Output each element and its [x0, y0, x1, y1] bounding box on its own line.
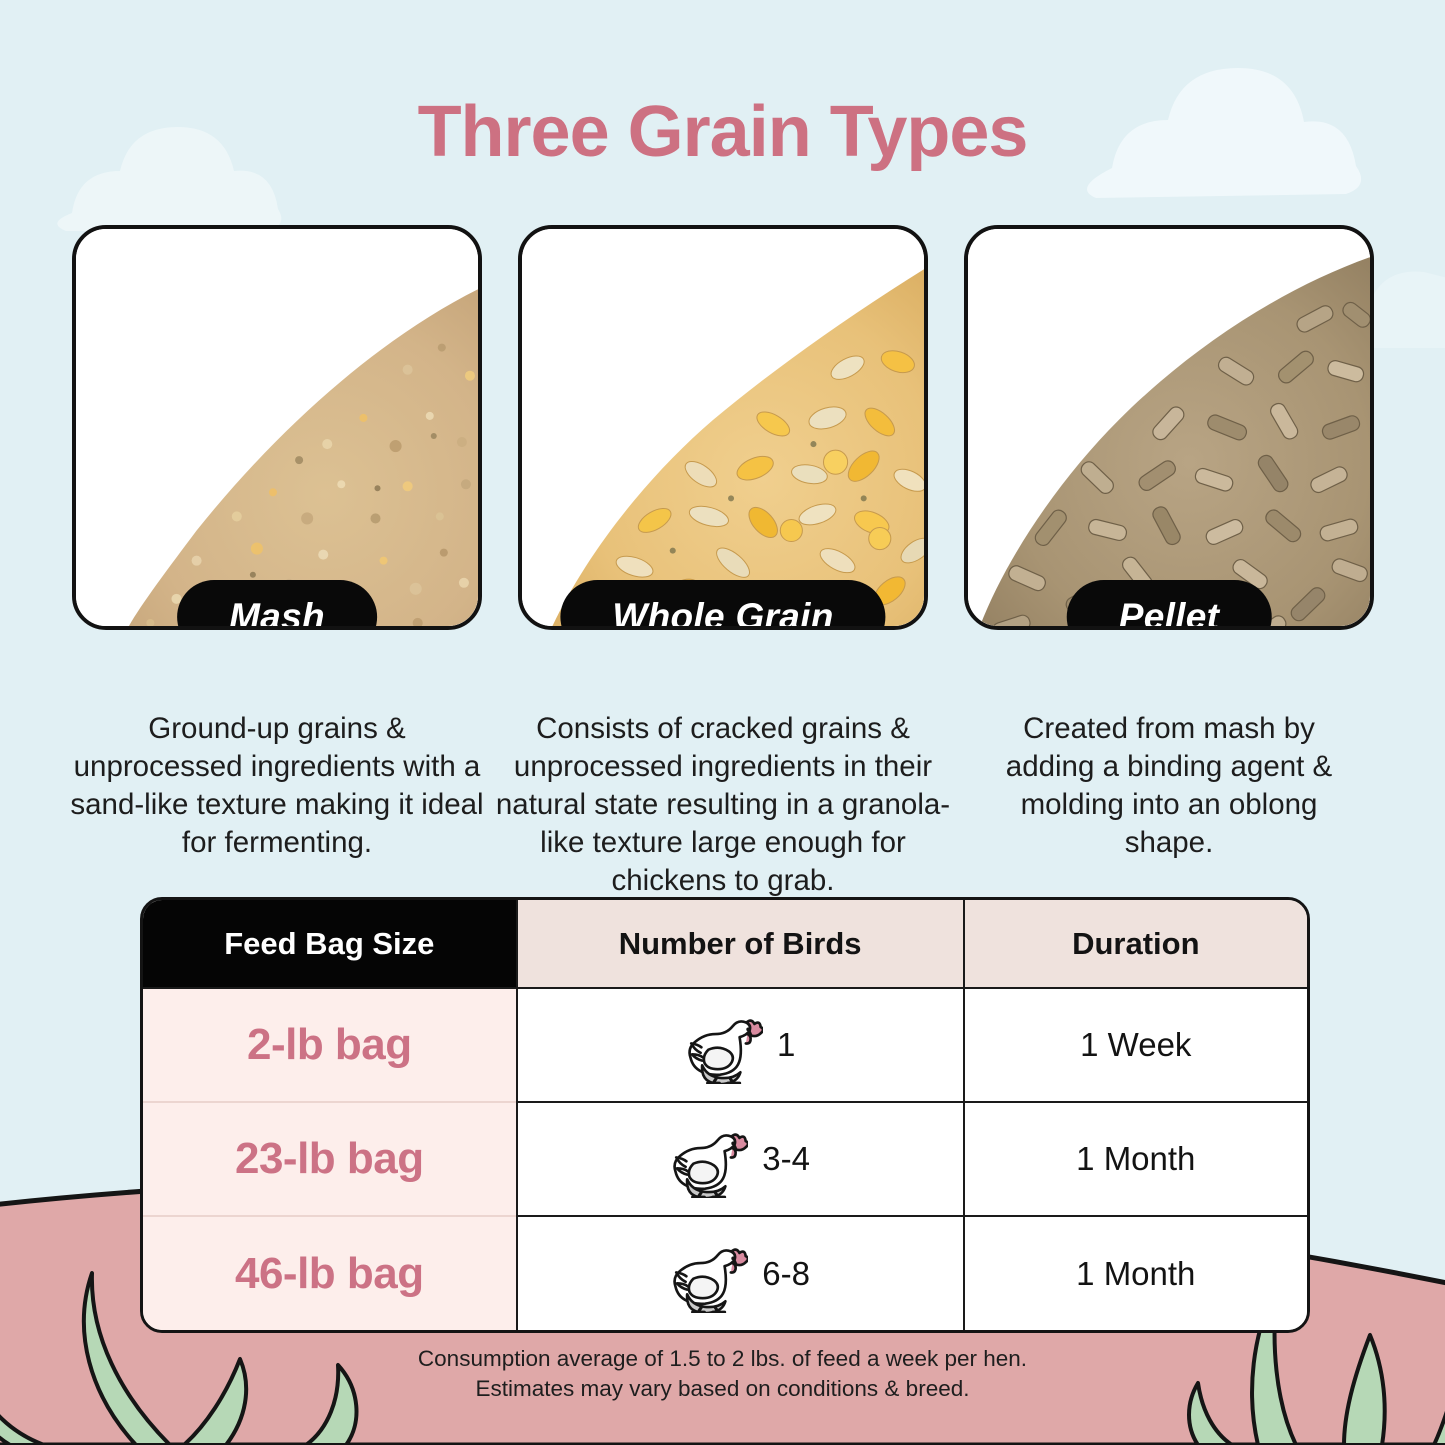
column-header-duration: Duration — [964, 900, 1307, 988]
grain-card-mash: Mash Ground-up grains & unprocessed ingr… — [72, 225, 482, 900]
column-header-number-of-birds: Number of Birds — [517, 900, 964, 988]
whole-grain-photo — [522, 229, 924, 630]
table-row: 2-lb bag — [143, 988, 1307, 1102]
column-header-feed-bag-size: Feed Bag Size — [143, 900, 517, 988]
bird-count-value: 1 — [777, 1026, 795, 1064]
table-row: 23-lb bag — [143, 1102, 1307, 1216]
grain-card-whole-grain: Whole Grain Consists of cracked grains &… — [518, 225, 928, 900]
grain-description: Created from mash by adding a binding ag… — [1004, 710, 1334, 862]
footer-note: Consumption average of 1.5 to 2 lbs. of … — [0, 1344, 1445, 1404]
grain-description: Consists of cracked grains & unprocessed… — [488, 710, 958, 900]
hen-icon — [670, 1235, 748, 1313]
cell-bag-size: 2-lb bag — [143, 988, 517, 1102]
grain-card-pellet: Pellet Created from mash by adding a bin… — [964, 225, 1374, 900]
table-row: 46-lb bag — [143, 1216, 1307, 1330]
infographic-canvas: Three Grain Types — [0, 0, 1445, 1445]
grain-label-pill: Whole Grain — [560, 580, 885, 630]
page-title: Three Grain Types — [0, 96, 1445, 168]
grain-cards-row: Mash Ground-up grains & unprocessed ingr… — [72, 225, 1374, 900]
grain-photo-card: Pellet — [964, 225, 1374, 630]
hen-icon — [670, 1120, 748, 1198]
cell-number-of-birds: 6-8 — [517, 1216, 964, 1330]
cell-number-of-birds: 1 — [517, 988, 964, 1102]
mash-grain-photo — [76, 229, 478, 630]
footer-line-2: Estimates may vary based on conditions &… — [0, 1374, 1445, 1404]
cell-duration: 1 Month — [964, 1216, 1307, 1330]
footer-line-1: Consumption average of 1.5 to 2 lbs. of … — [0, 1344, 1445, 1374]
grain-photo-card: Mash — [72, 225, 482, 630]
pellet-photo — [968, 229, 1370, 630]
cell-bag-size: 23-lb bag — [143, 1102, 517, 1216]
table-header-row: Feed Bag Size Number of Birds Duration — [143, 900, 1307, 988]
cell-bag-size: 46-lb bag — [143, 1216, 517, 1330]
feed-bag-table: Feed Bag Size Number of Birds Duration 2… — [140, 897, 1310, 1333]
grain-label-pill: Mash — [177, 580, 377, 630]
cell-duration: 1 Month — [964, 1102, 1307, 1216]
grain-label-pill: Pellet — [1067, 580, 1272, 630]
grain-description: Ground-up grains & unprocessed ingredien… — [62, 710, 492, 862]
grain-photo-card: Whole Grain — [518, 225, 928, 630]
cell-number-of-birds: 3-4 — [517, 1102, 964, 1216]
bird-count-value: 3-4 — [762, 1140, 810, 1178]
hen-icon — [685, 1006, 763, 1084]
cell-duration: 1 Week — [964, 988, 1307, 1102]
bird-count-value: 6-8 — [762, 1255, 810, 1293]
